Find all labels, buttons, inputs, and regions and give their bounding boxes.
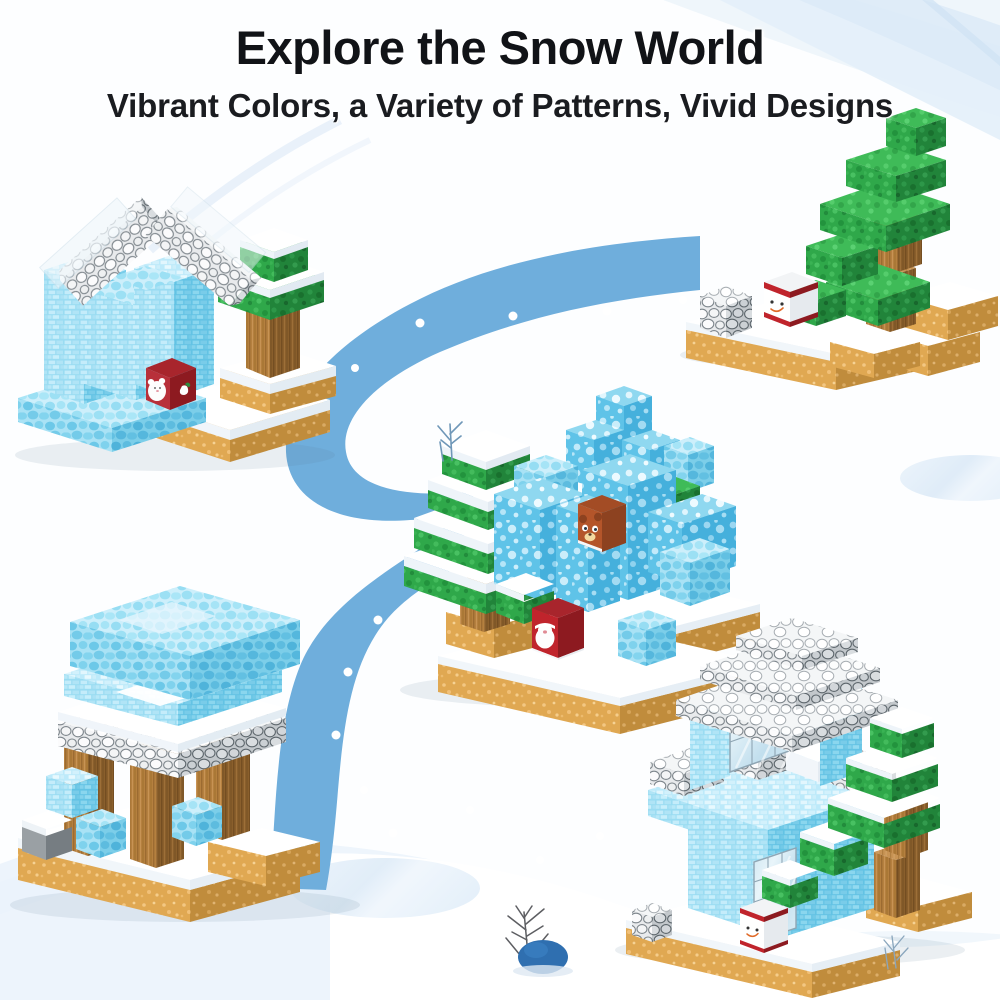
- header-text-block: Explore the Snow World Vibrant Colors, a…: [0, 22, 1000, 126]
- cobblestone-cube-top-right: [700, 286, 752, 338]
- blocks-scene: [0, 0, 1000, 1000]
- page-title: Explore the Snow World: [0, 22, 1000, 75]
- cobble-cube-bottom-left-of-house: [632, 903, 672, 942]
- page-subtitle: Vibrant Colors, a Variety of Patterns, V…: [0, 85, 1000, 126]
- character-cube-santa-center: [532, 598, 584, 660]
- build-pavilion-bottom-left: [18, 586, 320, 922]
- character-cube-snowman-top-right: [764, 272, 818, 327]
- character-cube-bear-center: [578, 495, 626, 552]
- character-cube-snowman-bottom-right: [740, 899, 788, 953]
- product-banner: Explore the Snow World Vibrant Colors, a…: [0, 0, 1000, 1000]
- build-top-right: [686, 108, 998, 390]
- decor-bush-rock-bottom: [506, 906, 573, 977]
- character-cube-polar-bear: [146, 358, 196, 410]
- ice-cube-mid-pavilion: [172, 797, 222, 846]
- build-ice-house-top-left: [18, 187, 336, 462]
